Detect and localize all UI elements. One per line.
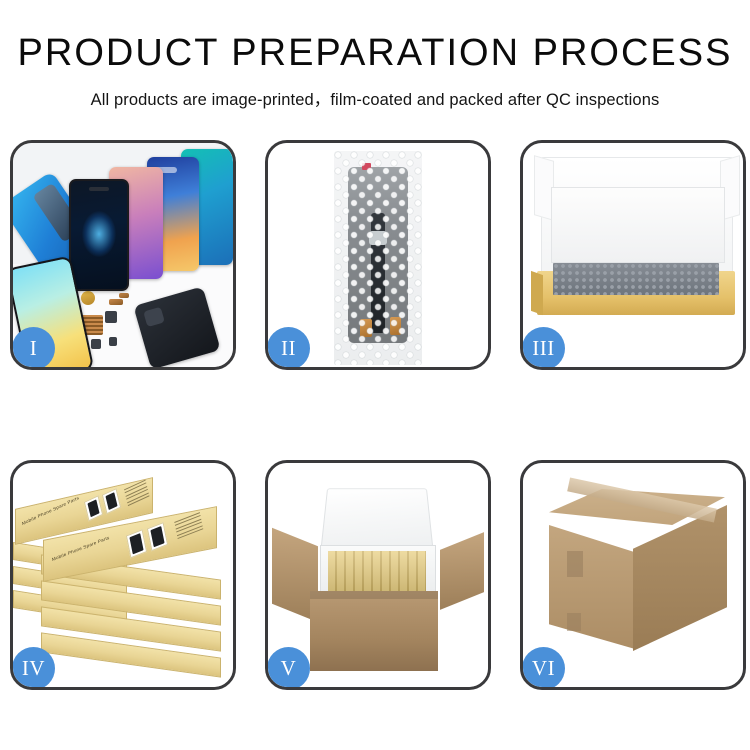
box-spec-lines: [124, 480, 150, 509]
page-title: PRODUCT PREPARATION PROCESS: [0, 34, 750, 72]
step-frame-2: II: [265, 140, 491, 370]
steps-grid: I II: [10, 140, 745, 690]
phone-screen-dark-icon: [69, 179, 129, 291]
step-card-3: III: [520, 140, 746, 370]
carton-body-icon: [310, 591, 438, 671]
step-badge-6: VI: [522, 647, 565, 690]
box-spec-lines: [174, 512, 203, 541]
step-badge-1: I: [12, 327, 55, 370]
carton-side-face-icon: [633, 505, 727, 651]
part-speaker-icon: [81, 291, 95, 305]
page-subtitle: All products are image-printed，film-coat…: [0, 86, 750, 110]
step-badge-5: V: [267, 647, 310, 690]
infographic-page: PRODUCT PREPARATION PROCESS All products…: [0, 0, 750, 750]
part-antenna-icon: [119, 293, 129, 298]
bubble-wrap-bag-icon: [334, 151, 422, 365]
part-camera-icon: [91, 339, 101, 349]
carton-tape-patch-lower-icon: [567, 613, 581, 631]
carton-flap-right-icon: [440, 532, 484, 610]
step-card-5: V: [265, 460, 491, 690]
white-foam-sheet-icon: [551, 187, 725, 263]
box-label-text: Mobile Phone Spare Parts: [52, 535, 110, 562]
box-window-icon: [126, 529, 147, 558]
bubble-texture: [334, 151, 422, 365]
step-card-1: I: [10, 140, 236, 370]
step-card-6: VI: [520, 460, 746, 690]
step-frame-3: III: [520, 140, 746, 370]
kraft-boxes-inside-icon: [328, 551, 426, 593]
step-badge-2: II: [267, 327, 310, 370]
box-window-icon: [102, 488, 121, 514]
grey-foam-insert-icon: [553, 263, 719, 295]
step-card-4: Mobile Phone Spare Parts Mobile Phone Sp…: [10, 460, 236, 690]
step-badge-4: IV: [12, 647, 55, 690]
box-label-text: Mobile Phone Spare Parts: [21, 495, 79, 526]
step-frame-4: Mobile Phone Spare Parts Mobile Phone Sp…: [10, 460, 236, 690]
step-frame-1: I: [10, 140, 236, 370]
part-ic-icon: [105, 311, 117, 323]
step-frame-6: VI: [520, 460, 746, 690]
carton-tape-patch-upper-icon: [567, 551, 583, 577]
step-badge-3: III: [522, 327, 565, 370]
box-window-icon: [147, 522, 168, 551]
carton-front-face-icon: [549, 525, 635, 649]
box-window-icon: [84, 495, 103, 521]
step-frame-5: V: [265, 460, 491, 690]
step-card-2: II: [265, 140, 491, 370]
part-flex-icon: [109, 299, 123, 305]
styrofoam-lid-icon: [321, 488, 434, 549]
header: PRODUCT PREPARATION PROCESS All products…: [0, 0, 750, 110]
part-screw-icon: [109, 337, 117, 346]
